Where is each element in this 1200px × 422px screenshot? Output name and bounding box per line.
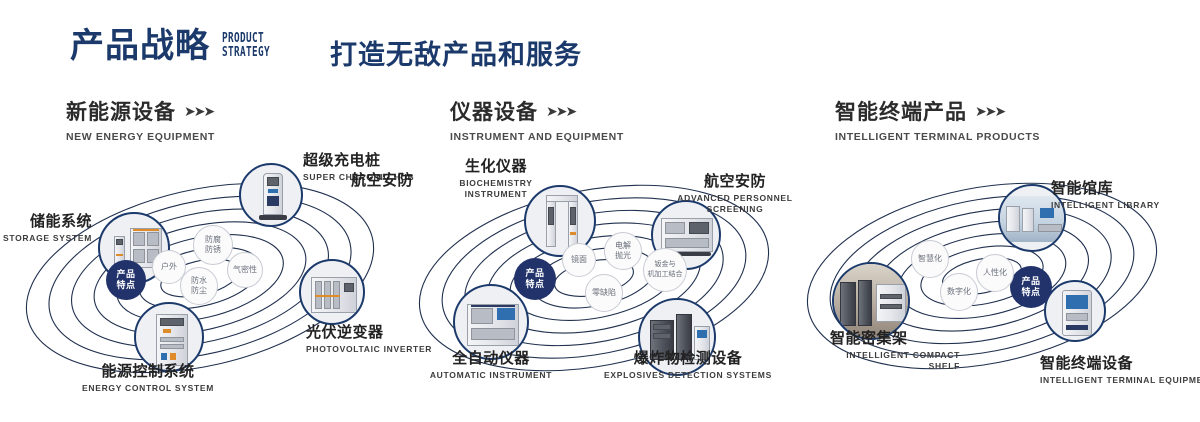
feature-bubble-digitalization[interactable]: 数字化 — [940, 273, 978, 311]
label-en: INTELLIGENT LIBRARY — [1051, 200, 1200, 211]
page-title: 产品战略 — [70, 24, 210, 68]
feature-label-line2: 防尘 — [191, 286, 207, 296]
label-energy-control-system: 能源控制系统 ENERGY CONTROL SYSTEM — [48, 363, 248, 394]
label-biochemistry-instrument: 生化仪器 BIOCHEMISTRY INSTRUMENT — [436, 158, 556, 200]
label-cn: 能源控制系统 — [48, 363, 248, 381]
feature-label: 户外 — [161, 262, 177, 272]
label-aviation-security-left: 航空安防 — [308, 172, 413, 190]
label-en: ADVANCED PERSONNEL SCREENING — [675, 193, 795, 215]
charging-pile-icon — [241, 165, 301, 225]
section-header-instrument: 仪器设备➤➤➤ INSTRUMENT AND EQUIPMENT — [450, 96, 624, 143]
node-bubble-super-charging-hub[interactable] — [239, 163, 303, 227]
section-title-cn: 智能终端产品 — [835, 96, 967, 126]
feature-label: 数字化 — [947, 287, 971, 297]
label-explosives-detection: 爆炸物检测设备 EXPLOSIVES DETECTION SYSTEMS — [598, 350, 778, 381]
feature-label: 人性化 — [983, 268, 1007, 278]
feature-label: 智慧化 — [918, 254, 942, 264]
center-badge-text-2: 特点 — [1021, 287, 1040, 298]
section-header-new-energy: 新能源设备➤➤➤ NEW ENERGY EQUIPMENT — [66, 96, 215, 143]
node-bubble-intelligent-compact-shelf[interactable] — [832, 262, 910, 340]
page-header: 产品战略 PRODUCT STRATEGY 打造无敌产品和服务 — [0, 0, 1200, 86]
feature-bubble-anticorrosion[interactable]: 防腐 防锈 — [193, 225, 233, 265]
diagram-instrument: 产品 特点 镜面 电解 抛光 钣金与 机加工结合 零缺陷 航空安防 生化仪器 B… — [398, 150, 798, 422]
page-title-english-line2: STRATEGY — [222, 46, 270, 60]
feature-label-line1: 防水 — [191, 276, 207, 286]
section-title-en: INSTRUMENT AND EQUIPMENT — [450, 131, 624, 143]
label-en: AUTOMATIC INSTRUMENT — [406, 370, 576, 381]
page-title-english-line1: PRODUCT — [222, 32, 270, 46]
label-en: INTELLIGENT COMPACT SHELF — [830, 350, 960, 372]
auto-analyzer-icon — [455, 286, 527, 358]
label-cn: 生化仪器 — [436, 158, 556, 176]
label-en: INTELLIGENT TERMINAL EQUIPMENT — [1040, 375, 1200, 386]
feature-label-line1: 防腐 — [205, 235, 221, 245]
diagram-intelligent-terminal: 产品 特点 智慧化 人性化 数字化 智能馆库 INTELLIGENT LIBRA… — [796, 150, 1196, 422]
compact-shelf-icon — [834, 264, 908, 338]
label-cn: 智能密集架 — [830, 330, 960, 348]
feature-label-line2: 抛光 — [615, 251, 631, 261]
label-cn: 爆炸物检测设备 — [598, 350, 778, 368]
label-storage-system: 储能系统 ENERGY STORAGE SYSTEM — [0, 213, 92, 244]
label-automatic-instrument: 全自动仪器 AUTOMATIC INSTRUMENT — [406, 350, 576, 381]
feature-label: 气密性 — [233, 265, 257, 275]
label-cn: 全自动仪器 — [406, 350, 576, 368]
section-title-en: NEW ENERGY EQUIPMENT — [66, 131, 215, 143]
label-cn: 航空安防 — [675, 173, 795, 191]
label-intelligent-library: 智能馆库 INTELLIGENT LIBRARY — [1051, 180, 1200, 211]
feature-label-line2: 防锈 — [205, 245, 221, 255]
inverter-cabinet-icon — [301, 261, 363, 323]
center-badge-text-1: 产品 — [525, 268, 544, 279]
feature-bubble-humanization[interactable]: 人性化 — [976, 254, 1014, 292]
label-en: BIOCHEMISTRY INSTRUMENT — [436, 178, 556, 200]
label-intelligent-terminal-equipment: 智能终端设备 INTELLIGENT TERMINAL EQUIPMENT — [1040, 355, 1200, 386]
diagram-new-energy: 户外 产品 特点 户外 防腐 防锈 防水 防尘 气密性 储能系统 ENERGY … — [0, 150, 400, 422]
feature-bubble-intelligence[interactable]: 智慧化 — [911, 240, 949, 278]
label-cn: 航空安防 — [308, 172, 413, 190]
chevron-right-icon: ➤➤➤ — [975, 103, 1004, 120]
page-title-english: PRODUCT STRATEGY — [222, 32, 270, 60]
node-bubble-automatic-instrument[interactable] — [453, 284, 529, 360]
feature-label-line1: 电解 — [615, 241, 631, 251]
label-intelligent-compact-shelf: 智能密集架 INTELLIGENT COMPACT SHELF — [830, 330, 960, 372]
label-cn: 智能馆库 — [1051, 180, 1200, 198]
center-badge-text-1: 产品 — [116, 269, 135, 280]
feature-label-line1: 钣金与 — [655, 260, 676, 270]
label-en: ENERGY CONTROL SYSTEM — [48, 383, 248, 394]
feature-label: 镜面 — [571, 255, 587, 265]
chevron-right-icon: ➤➤➤ — [184, 103, 213, 120]
section-title-cn: 新能源设备 — [66, 96, 176, 126]
section-title-en: INTELLIGENT TERMINAL PRODUCTS — [835, 131, 1040, 143]
center-badge-text-2: 特点 — [525, 279, 544, 290]
label-cn: 智能终端设备 — [1040, 355, 1200, 373]
center-badge-product-features[interactable]: 产品 特点 — [514, 258, 556, 300]
kiosk-terminal-icon — [1046, 282, 1104, 340]
feature-bubble-airtightness[interactable]: 气密性 — [227, 252, 263, 288]
node-bubble-energy-control-system[interactable] — [134, 302, 204, 372]
center-badge-text-2: 特点 — [116, 280, 135, 291]
feature-bubble-electropolishing[interactable]: 电解 抛光 — [604, 232, 642, 270]
center-badge-product-features[interactable]: 户外 产品 特点 — [106, 260, 146, 300]
center-badge-product-features[interactable]: 产品 特点 — [1010, 266, 1052, 308]
label-cn: 储能系统 — [0, 213, 92, 231]
section-header-intelligent: 智能终端产品➤➤➤ INTELLIGENT TERMINAL PRODUCTS — [835, 96, 1040, 143]
feature-label-line2: 机加工结合 — [648, 270, 683, 280]
feature-bubble-sheet-metal-machining[interactable]: 钣金与 机加工结合 — [643, 248, 687, 292]
chevron-right-icon: ➤➤➤ — [546, 103, 575, 120]
node-bubble-photovoltaic-inverter[interactable] — [299, 259, 365, 325]
page-subtitle: 打造无敌产品和服务 — [330, 33, 582, 72]
node-bubble-intelligent-terminal-equipment[interactable] — [1044, 280, 1106, 342]
control-cabinet-icon — [136, 304, 202, 370]
label-advanced-personnel-screening: 航空安防 ADVANCED PERSONNEL SCREENING — [675, 173, 795, 215]
feature-bubble-waterproof[interactable]: 防水 防尘 — [180, 267, 218, 305]
section-title-cn: 仪器设备 — [450, 96, 538, 126]
feature-bubble-zero-defect[interactable]: 零缺陷 — [585, 274, 623, 312]
label-en: EXPLOSIVES DETECTION SYSTEMS — [598, 370, 778, 381]
label-en: ENERGY STORAGE SYSTEM — [0, 233, 92, 244]
feature-label: 零缺陷 — [592, 288, 616, 298]
feature-bubble-mirror-finish[interactable]: 镜面 — [562, 243, 596, 277]
center-badge-text-1: 产品 — [1021, 276, 1040, 287]
